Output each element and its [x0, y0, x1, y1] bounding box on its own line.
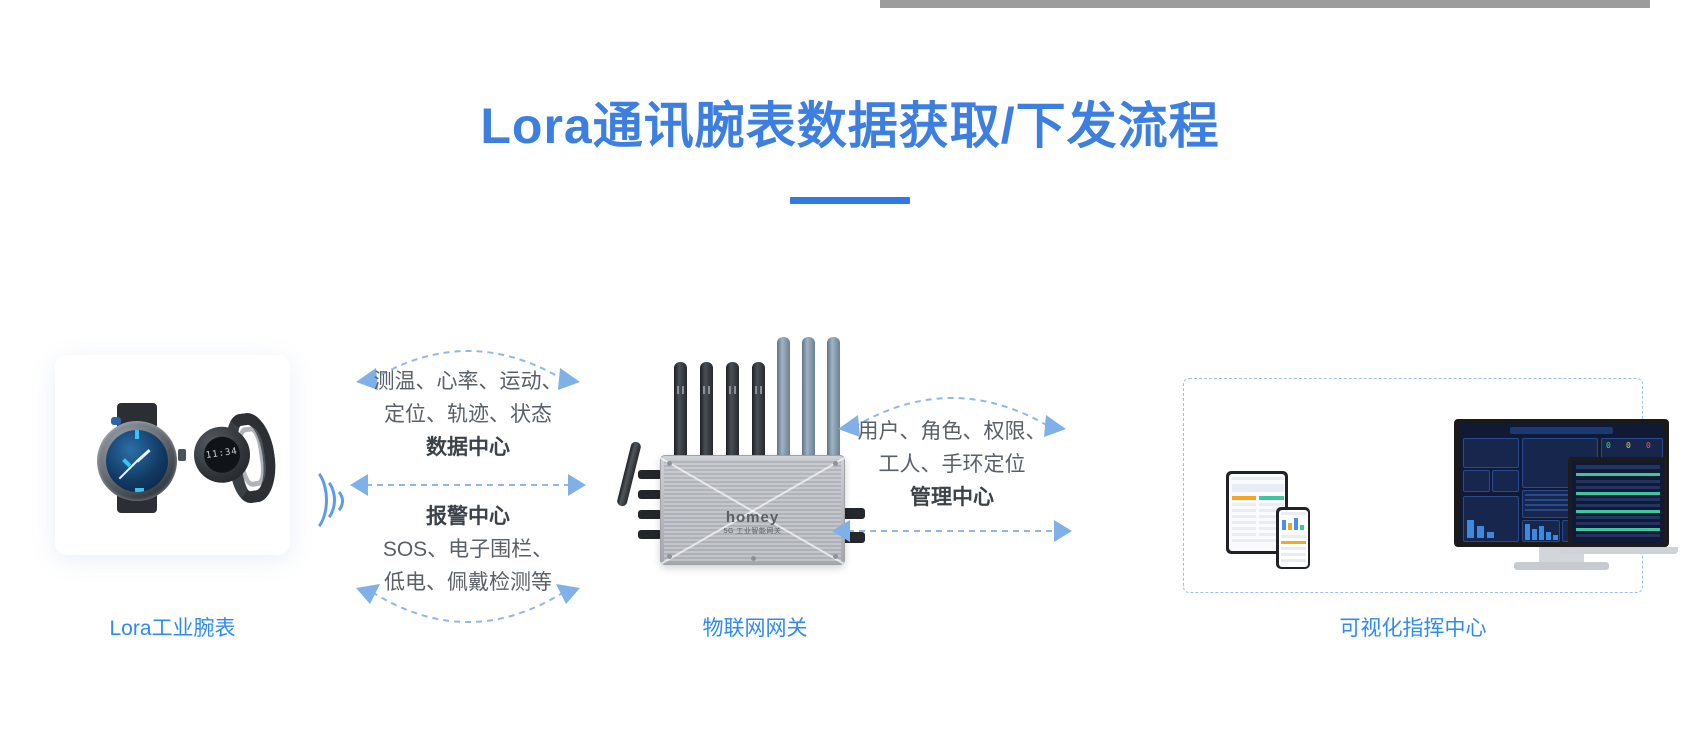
- title-underline-rule: [790, 197, 910, 204]
- uplink-line-2: 定位、轨迹、状态: [352, 398, 584, 431]
- iot-gateway-icon: homey 5G 工业智能网关: [660, 305, 845, 565]
- flow-gateway-to-center: 用户、角色、权限、 工人、手环定位 管理中心: [832, 385, 1072, 565]
- right-uplink-center-label: 管理中心: [832, 481, 1072, 514]
- right-uplink-line-1: 用户、角色、权限、: [832, 415, 1072, 448]
- downlink-center-label: 报警中心: [352, 500, 584, 533]
- watch-round-blue-icon: [91, 403, 183, 513]
- right-midline-arrow-left: [832, 520, 850, 542]
- top-accent-bar-cap: [1650, 0, 1700, 8]
- side-connector-2: [638, 490, 662, 499]
- uplink-line-1: 测温、心率、运动、: [352, 365, 584, 398]
- downlink-text-block: 报警中心 SOS、电子围栏、 低电、佩戴检测等: [352, 500, 584, 599]
- gateway-brand-sub: 5G 工业智能网关: [660, 526, 845, 536]
- downlink-line-1: SOS、电子围栏、: [352, 533, 584, 566]
- watch-node-label: Lora工业腕表: [0, 612, 345, 642]
- midline-arrow-left: [350, 474, 368, 496]
- page-title: Lora通讯腕表数据获取/下发流程: [0, 95, 1700, 158]
- watch-dark-angled-icon: 11:34: [189, 408, 282, 514]
- downlink-line-2: 低电、佩戴检测等: [352, 566, 584, 599]
- right-uplink-line-2: 工人、手环定位: [832, 448, 1072, 481]
- diagram-canvas: Lora通讯腕表数据获取/下发流程: [0, 0, 1700, 753]
- wireless-signal-icon: [300, 465, 348, 535]
- smartwatch-pair-icon: 11:34: [55, 355, 290, 555]
- gateway-brand-name: homey: [726, 509, 779, 526]
- gateway-brand-text: homey 5G 工业智能网关: [660, 509, 845, 536]
- right-uplink-text-block: 用户、角色、权限、 工人、手环定位 管理中心: [832, 415, 1072, 514]
- command-center-node-label: 可视化指挥中心: [1183, 612, 1643, 642]
- uplink-text-block: 测温、心率、运动、 定位、轨迹、状态 数据中心: [352, 365, 584, 464]
- midline-arrow-right: [568, 474, 586, 496]
- side-connector-1: [638, 470, 662, 479]
- phone-device-icon: [1276, 507, 1310, 569]
- command-center-panel: 0 0 0: [1183, 378, 1643, 593]
- uplink-center-label: 数据中心: [352, 431, 584, 464]
- right-midline-arrow-right: [1054, 520, 1072, 542]
- side-connector-4: [638, 530, 662, 539]
- top-accent-bar: [880, 0, 1700, 8]
- watch-image-card: 11:34: [55, 355, 290, 555]
- flow-watch-to-gateway: 测温、心率、运动、 定位、轨迹、状态 数据中心 报警中心 SOS、电子围栏、 低…: [352, 340, 584, 630]
- side-connector-3: [638, 510, 662, 519]
- laptop-device-icon: [1568, 457, 1678, 562]
- gateway-chassis: homey 5G 工业智能网关: [660, 455, 845, 565]
- gateway-node-label: 物联网网关: [610, 612, 900, 642]
